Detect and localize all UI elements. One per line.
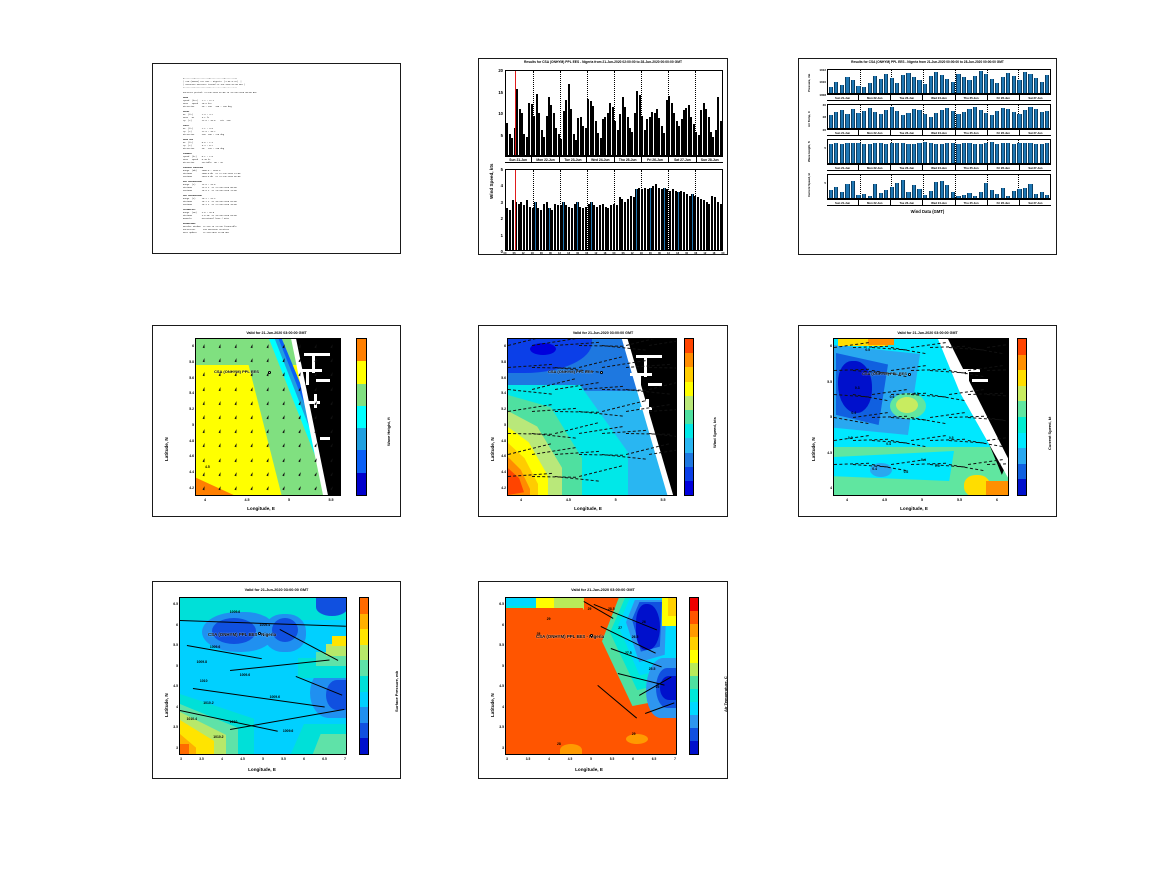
colorbar-segment [1018,386,1026,402]
date-cell: Tue 23-Jun [891,200,923,205]
bar [605,207,607,250]
xtick: 4.5 [562,498,574,502]
ytick: 3.5 [489,725,504,729]
xtick: 4.5 [241,498,253,502]
streamline [987,463,1009,465]
bar [862,87,866,93]
xtick: 5 [585,757,597,761]
bar [1040,112,1044,128]
bar [616,205,618,250]
bar [661,189,663,250]
bar [884,190,888,198]
streamline [531,433,575,439]
direction-arrow [314,386,317,390]
bar [686,194,688,250]
bar [714,197,716,250]
bar [956,196,960,198]
contour-label: 0.3 [848,436,853,440]
ytick: 6.5 [163,602,178,606]
streamline [987,417,1009,424]
bar [697,197,699,250]
contour-label: 27 [618,626,622,630]
panel5-wind-streamlines [508,339,676,495]
report-line: Remarks occasional haze / mist [183,218,394,221]
contour-label: 0.4 [872,467,877,471]
colorbar-segment [360,629,368,645]
streamline [649,448,677,456]
panel3-datestrip: Sun 21-JunMon 22-JunTue 23-JunWed 24-Jun… [827,129,1051,136]
colorbar-tick: 26.5 [698,690,699,694]
bar [845,184,849,198]
colorbar-segment [1018,448,1026,464]
xtick: 5.5 [954,498,966,502]
colorbar-segment [690,598,698,611]
bar [1006,143,1010,163]
bar [929,76,933,93]
contour-label: 1009.6 [230,610,240,614]
date-cell: Thu 25-Jun [956,95,988,100]
report-line: Direction variable NW - SE [183,162,394,165]
ytick: 1010 [811,80,826,84]
xtick: 7 [669,757,681,761]
direction-arrow [330,372,333,376]
direction-arrow [202,486,205,490]
colorbar-segment [360,723,368,739]
panel6-colorbar: 10.90.80.70.60.50.40.30.20.1 [1017,338,1027,496]
bar [995,83,999,93]
panel6-site-marker [908,373,911,376]
date-cell: Mon 22-Jun [859,165,891,170]
colorbar-tick: 1009.2 [368,733,369,737]
streamline [555,476,599,482]
bar [868,144,872,163]
ytick: 5.6 [491,376,506,380]
bar [923,114,927,128]
bar [1040,144,1044,163]
bar [700,199,702,250]
xtick: 4 [216,757,228,761]
ytick: 6.5 [489,602,504,606]
report-line: Direction SSW 195 - 215 deg [183,134,394,137]
colorbar-segment [360,660,368,676]
bar [568,207,570,250]
colorbar-tick: 25.5 [698,721,699,725]
colorbar-segment [685,467,693,481]
panel5-colorbar-label: Wind Speed, kts [712,417,717,448]
bar [967,80,971,93]
contour-label: 0.5 [865,348,870,352]
bar [901,180,905,198]
colorbar-segment [1018,370,1026,386]
report-block: WINDSpeed (kts) 7.2 - 17.2Mean speed 10.… [183,97,394,109]
colorbar-segment [685,453,693,467]
direction-arrow [219,358,222,362]
streamline [649,408,677,412]
bar [593,205,595,250]
direction-arrow [314,457,318,461]
direction-arrow [282,429,285,433]
bar [551,210,553,250]
panel8-colorbar: 29.52928.52827.52726.52625.52524.5 [689,597,699,755]
panel4-site-label: CSA (ONHYM) PPL EES [214,369,259,374]
contour-label: 1010 [200,679,208,683]
ytick: 4 [163,705,178,709]
bar [829,87,833,93]
contour-label: 0.5 [949,436,954,440]
colorbar-tick: 1009.6 [368,694,369,698]
colorbar-tick: 1009 [368,752,369,755]
bar [990,142,994,163]
panel4-wave-direction-arrows [196,339,340,495]
direction-arrow [330,443,334,447]
bar [596,207,598,250]
colorbar-segment [690,728,698,741]
report-block: SWELLHs (ft) 2.1 - 3.9Tp (s) 12.0 - 15.2… [183,125,394,137]
bar [884,74,888,93]
contour-label: 0.6 [890,395,895,399]
direction-arrow [250,401,253,405]
bar [672,189,674,250]
contour-label: 1010 [230,720,238,724]
colorbar-tick: 26 [698,705,699,709]
xtick: 5.5 [278,757,290,761]
bar [1028,74,1032,93]
streamline [602,454,646,460]
bar [635,189,637,250]
bar [599,205,601,250]
xtick: 3 [501,757,513,761]
bar [890,78,894,93]
bar [1040,82,1044,94]
bar [691,194,693,250]
bar [518,204,520,250]
xtick: 4.5 [564,757,576,761]
bar [829,144,833,163]
direction-arrow [282,486,285,490]
panel4-colorbar-label: Wave Height, ft [386,417,391,446]
date-cell: Fri 26-Jun [988,200,1020,205]
direction-arrow [235,344,238,348]
bar [951,111,955,128]
colorbar-tick: 1010.6 [368,597,369,600]
bar [895,83,899,93]
streamline [930,394,964,401]
date-cell: Mon 22-Jun [859,200,891,205]
colorbar-segment [685,424,693,438]
panel4-ylabel: Latitude, N [164,437,169,461]
direction-arrow [282,471,285,475]
bar [929,143,933,163]
colorbar-segment [360,707,368,723]
bar [655,184,657,250]
panel5-xlabel: Longitude, E [507,506,669,511]
colorbar-tick: 25 [698,736,699,740]
colorbar-tick: 6 [693,415,694,419]
colorbar-segment [685,410,693,424]
bar [1028,184,1032,198]
report-line: Forecast period: 21-Jun-2020 02:00 to 28… [183,92,394,95]
contour-label: 1009.6 [283,729,293,733]
bar [956,114,960,128]
streamline [578,411,622,417]
direction-arrow [203,372,206,376]
panel2-wave-axes [505,169,723,251]
direction-arrow [298,372,301,376]
xtick: 4 [515,498,527,502]
direction-arrow [330,386,333,390]
direction-arrow [235,386,238,390]
date-cell: Thu 25-Jun [956,165,988,170]
report-block: WAVESHs (ft) 2.3 - 4.2Mean Hs 3.1 ftTp (… [183,111,394,123]
xtick: 5 [610,498,622,502]
bar [984,113,988,128]
colorbar-tick: 9 [693,357,694,361]
panel-current-speed-map: Valid for 21-Jun-2020 03:00:00 GMT Latit… [798,325,1057,517]
bar [906,192,910,198]
bar [895,111,899,128]
date-cell: Fri 26-Jun [988,95,1020,100]
bar [956,144,960,163]
date-cell: Sat 27-Jun [669,157,696,162]
bar [532,208,534,250]
colorbar-tick: 0.2 [1026,476,1027,480]
bar [856,113,860,128]
panel6-mapbox: CSA (ONHYM) PPL EES 0.50.30.40.60.50.40.… [833,338,1009,496]
colorbar-segment [357,361,366,383]
panel2-title: Results for CSA (ONHYM) PPL EES - Nigeri… [479,60,727,64]
bar [862,111,866,128]
date-cell: Mon 22-Jun [532,157,559,162]
ytick: 5.2 [179,407,194,411]
bar [554,204,556,250]
ytick: 5 [811,181,826,185]
bar [840,144,844,163]
direction-arrow [330,457,334,461]
colorbar-tick: 3 [366,389,367,393]
streamline [649,338,677,346]
bar [562,202,564,250]
bar [647,189,649,250]
xtick: 6.5 [319,757,331,761]
direction-arrow [314,429,317,433]
bar [956,74,960,93]
direction-arrow [330,344,333,348]
colorbar-segment [690,676,698,689]
bar [694,196,696,250]
panel8-site-label: CSA (ONHYM) PPL EES - Nigeria [536,634,604,639]
ytick: 5.5 [817,380,832,384]
panel6-title: Valid for 21-Jun-2020 03:00:00 GMT [799,331,1056,335]
panel5-mapbox: CSA (ONHYM) PPL EES [507,338,677,496]
direction-arrow [314,443,317,447]
streamline [508,444,551,456]
panel6-site-label: CSA (ONHYM) PPL EES [862,371,907,376]
ytick: 1008 [811,93,826,97]
date-cell: Mon 22-Jun [859,130,891,135]
ytick: 3.5 [163,725,178,729]
colorbar-tick: 1009.4 [368,713,369,717]
direction-arrow [250,429,253,433]
streamline [834,417,868,424]
bar [890,187,894,199]
bar [962,112,966,128]
date-cell: Wed 24-Jun [923,200,955,205]
direction-arrow [314,401,317,405]
bar [879,114,883,128]
colorbar-segment [690,741,698,754]
bar [1001,143,1005,163]
report-line: Maximum 28.4 C at 22-Jun-2020 15:00 [183,204,394,207]
bar [711,196,713,250]
bar [1001,77,1005,93]
direction-arrow [282,457,285,461]
direction-arrow [266,344,269,348]
colorbar-segment [360,738,368,754]
bar [579,207,581,250]
panel3-subplot-axes [827,69,1051,94]
date-cell: Sat 27-Jun [1020,95,1051,100]
bar [717,202,719,250]
colorbar-segment [1018,339,1026,355]
streamline [987,394,1009,397]
bar [923,142,927,163]
ytick: 3 [489,746,504,750]
colorbar-tick: 3 [693,474,694,478]
xtick: 5 [283,498,295,502]
bar [934,113,938,128]
report-block: CURRENTSpeed (kt) 0.1 - 1.0Mean speed 0.… [183,153,394,165]
bar [1006,196,1010,198]
report-block: Forecast period: 21-Jun-2020 02:00 to 28… [183,92,394,95]
colorbar-segment [1018,479,1026,495]
direction-arrow [250,443,253,447]
bar [917,189,921,198]
contour-label: 1009.6 [210,645,220,649]
bar [912,109,916,128]
streamline [910,417,944,424]
bar [979,192,983,198]
bar [1023,72,1027,93]
bar [520,202,522,250]
date-cell: Sat 27-Jun [1020,200,1051,205]
panel7-colorbar: 1010.61010.41010.210101009.81009.61009.4… [359,597,369,755]
ytick: 4.5 [817,451,832,455]
direction-arrow [266,401,269,405]
bar [979,71,983,93]
bar [523,205,525,250]
colorbar-tick: 29.5 [698,597,699,600]
ytick: 6 [491,344,506,348]
colorbar-segment [357,406,366,428]
ytick: 5 [179,423,194,427]
bar [940,181,944,198]
panel7-site-marker [258,632,261,635]
panel3-subplot-axes [827,139,1051,164]
bar [708,204,710,250]
bar [706,202,708,250]
panel-surface-pressure-map: Valid for 21-Jun-2020 03:00:00 GMT Latit… [152,581,401,779]
panel-wind-wave-timeseries: Results for CSA (ONHYM) PPL EES - Nigeri… [478,58,728,255]
panel-wind-speed-map: Valid for 21-Jun-2020 03:00:00 GMT Latit… [478,325,728,517]
ytick: 1012 [811,68,826,72]
direction-arrow [218,443,221,447]
colorbar-tick: 2 [693,493,694,496]
bar [1017,114,1021,128]
bar [879,143,883,163]
panel3-datestrip: Sun 21-JunMon 22-JunTue 23-JunWed 24-Jun… [827,199,1051,206]
streamline [625,389,669,395]
direction-arrow [251,344,254,348]
ytick: 5.5 [489,643,504,647]
direction-arrow [234,457,237,461]
direction-arrow [298,415,301,419]
colorbar-segment [360,692,368,708]
bar [940,75,944,93]
colorbar-segment [1018,401,1026,417]
direction-arrow [219,344,222,348]
bar [582,208,584,250]
bar [929,117,933,129]
figure-page: +--------+-----------+-----------+------… [0,0,1167,875]
colorbar-segment [360,598,368,614]
contour-label: 25 [656,685,660,689]
direction-arrow [203,358,206,362]
bar [543,204,545,250]
bar [851,181,855,198]
bar [677,192,679,250]
colorbar-tick: 28.5 [698,627,699,631]
panel-multi-parameter-timeseries: Results for CSA (ONHYM) PPL EES - Nigeri… [798,58,1057,255]
bar [940,110,944,128]
panel5-title: Valid for 21-Jun-2020 03:00:00 GMT [479,331,727,335]
direction-arrow [234,472,237,476]
ytick: 20 [491,68,503,73]
colorbar-tick: 1010.4 [368,616,369,620]
bar [856,195,860,198]
ytick: 6 [489,623,504,627]
date-cell: Tue 23-Jun [891,95,923,100]
bar [995,111,999,128]
date-cell: Mon 22-Jun [859,95,891,100]
bar [621,199,623,250]
direction-arrow [219,415,222,419]
direction-arrow [219,429,222,433]
direction-arrow [330,486,334,490]
panel2-wind-axes [505,70,723,156]
colorbar-segment [690,650,698,663]
streamline [987,342,1009,348]
bar [602,204,604,250]
date-cell: Fri 26-Jun [642,157,669,162]
bar [856,143,860,163]
ytick: 3 [491,200,503,205]
date-cell: Tue 23-Jun [891,130,923,135]
direction-arrow [250,457,253,461]
bar [967,193,971,198]
colorbar-segment [357,339,366,361]
direction-arrow [219,401,222,405]
bar [912,144,916,163]
ytick: 5 [811,146,826,150]
bar [658,188,660,250]
xtick: 4.5 [237,757,249,761]
bar [829,115,833,128]
bar [895,183,899,198]
direction-arrow [298,358,301,362]
bar [906,113,910,128]
colorbar-tick: 7 [693,396,694,400]
bar [984,143,988,163]
